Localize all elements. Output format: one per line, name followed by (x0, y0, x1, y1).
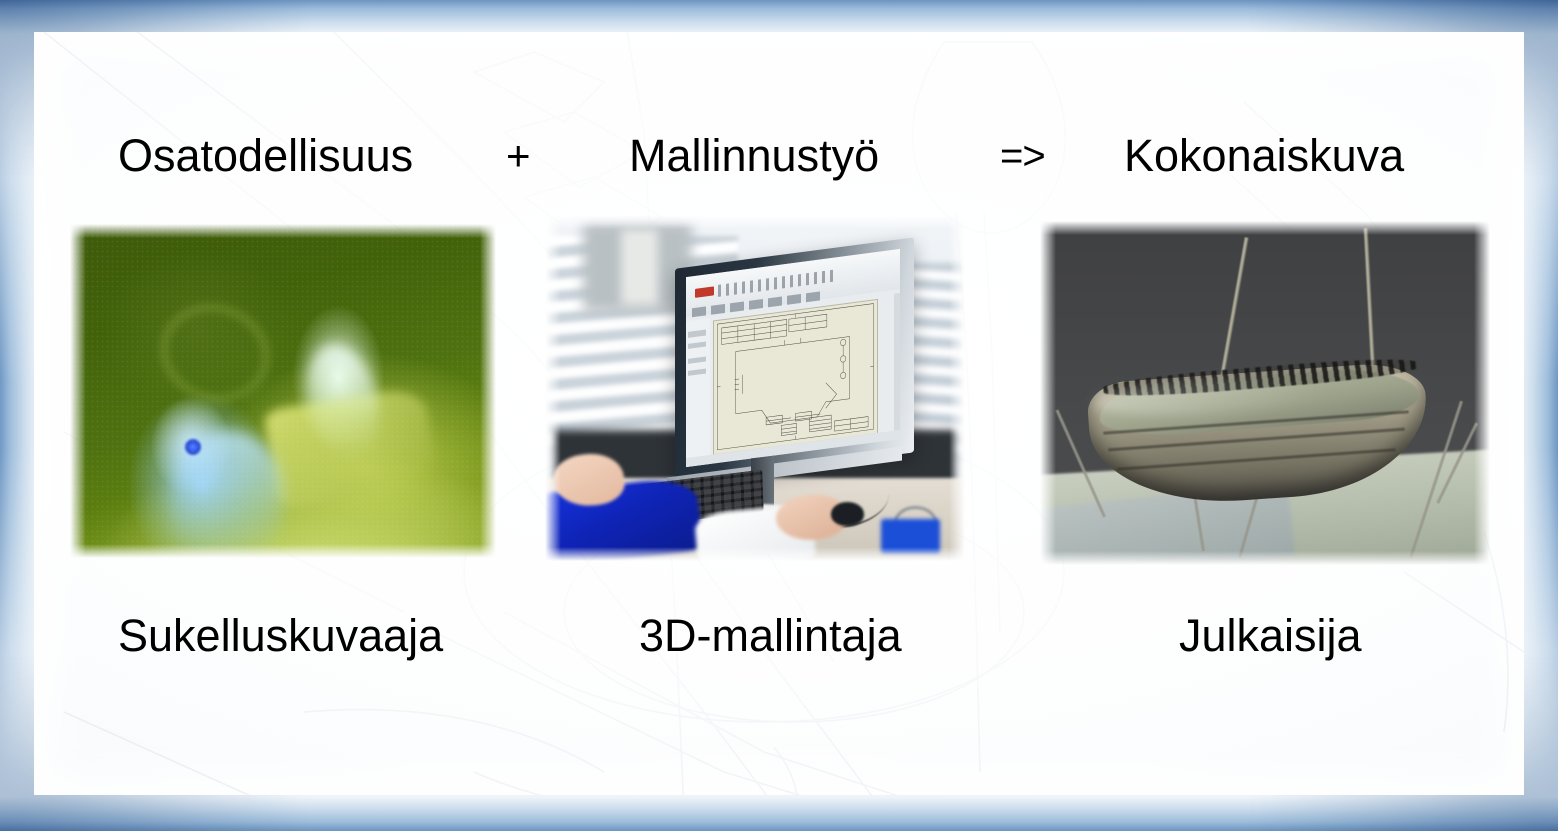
3d-wreck-model-photo (1040, 221, 1490, 565)
cad-drawing-canvas (714, 299, 877, 454)
slide-root: Osatodellisuus + Mallinnustyö => Kokonai… (0, 0, 1558, 831)
equation-result: Kokonaiskuva (1124, 124, 1404, 188)
cad-side-panel (686, 317, 710, 467)
cad-scrollbar[interactable] (893, 292, 899, 439)
background-cabinet-2 (621, 229, 659, 305)
cad-panel-row (688, 368, 706, 376)
3d-modeller-desk-photo (545, 215, 965, 561)
monitor-screen (686, 249, 900, 467)
equation-row: Osatodellisuus + Mallinnustyö => Kokonai… (0, 124, 1558, 188)
caption-publisher: Julkaisija (1179, 604, 1362, 668)
equation-plus-symbol: + (506, 124, 531, 188)
computer-mouse[interactable] (831, 502, 865, 526)
caption-row: Sukelluskuvaaja 3D-mallintaja Julkaisija (0, 604, 1558, 668)
underwater-dive-photo (70, 224, 496, 558)
cad-panel-row (688, 341, 706, 349)
equation-term-2: Mallinnustyö (629, 124, 879, 188)
caption-modeller: 3D-mallintaja (639, 604, 902, 668)
dive-particle-grain (70, 224, 496, 558)
equation-arrow-symbol: => (1000, 124, 1045, 188)
cad-panel-row (688, 330, 706, 338)
cad-panel-row (688, 356, 706, 364)
equation-term-1: Osatodellisuus (118, 124, 413, 188)
desk-blue-device (881, 519, 940, 554)
caption-diver: Sukelluskuvaaja (118, 604, 443, 668)
